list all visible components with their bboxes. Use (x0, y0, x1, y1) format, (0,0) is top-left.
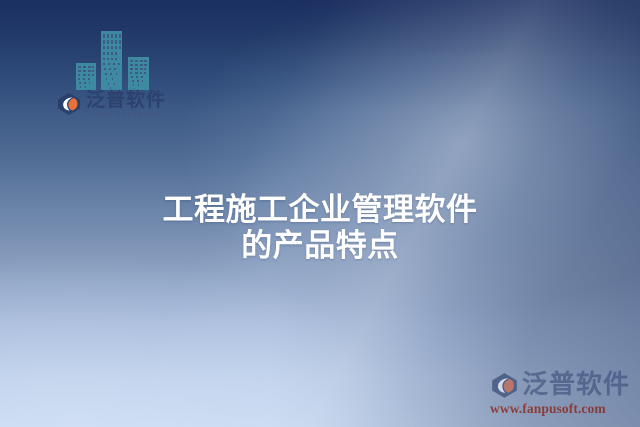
city-skyline-icon (74, 27, 152, 91)
brand-wordmark: 泛普软件 FANPU SOFTWARE (86, 91, 166, 118)
watermark-brand-name: 泛普软件 (522, 372, 630, 398)
promo-banner: 泛普软件 FANPU SOFTWARE 工程施工企业管理软件 的产品特点 泛普软… (0, 0, 640, 427)
page-title: 工程施工企业管理软件 的产品特点 (0, 192, 640, 264)
page-title-line-1: 工程施工企业管理软件 (163, 192, 478, 228)
brand-lockup: 泛普软件 FANPU SOFTWARE (56, 88, 166, 120)
watermark-url: www.fanpusoft.com (490, 401, 632, 417)
watermark: 泛普软件 www.fanpusoft.com (490, 370, 632, 417)
fanpu-logo-mark-icon (490, 371, 519, 400)
page-title-line-2: 的产品特点 (0, 228, 640, 264)
brand-name-cn: 泛普软件 (86, 91, 166, 110)
fanpu-logo-mark-icon (56, 91, 82, 117)
brand-name-en: FANPU SOFTWARE (86, 112, 166, 118)
watermark-brand-row: 泛普软件 (490, 370, 632, 400)
